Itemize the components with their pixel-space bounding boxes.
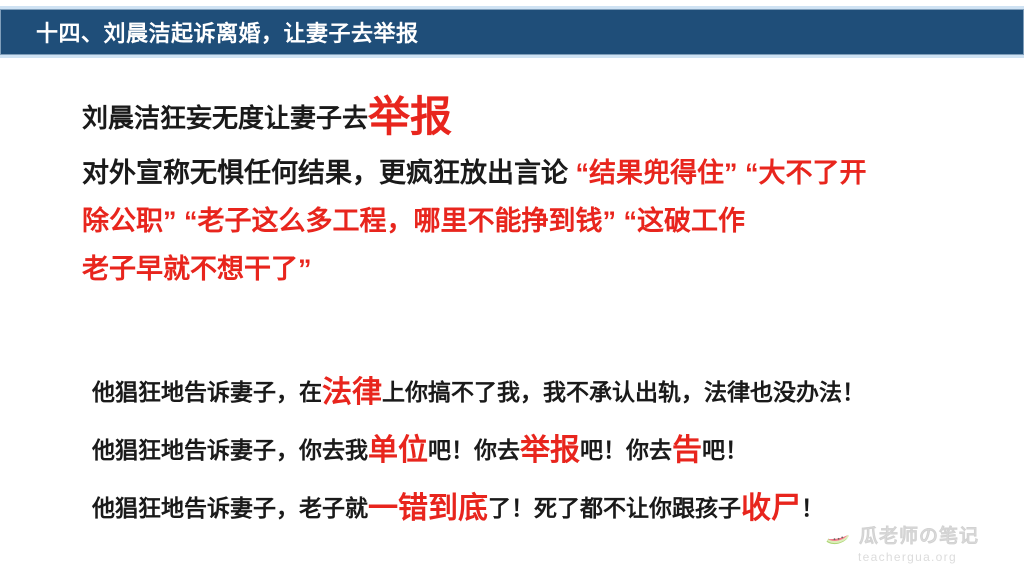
watermark-brand-text: 瓜老师の笔记 (859, 521, 979, 548)
statement-text-segment: 了！死了都不让你跟孩子 (488, 495, 741, 521)
headline-line: 刘晨洁狂妄无度让妻子去举报 (82, 92, 452, 134)
headline-lead-text: 刘晨洁狂妄无度让妻子去 (82, 103, 368, 133)
quotes-line: 对外宣称无惧任何结果，更疯狂放出言论 “结果兜得住” “大不了开 (82, 160, 992, 187)
statement-text-segment: 吧！你去 (580, 437, 672, 463)
watermelon-slice-icon (824, 520, 852, 548)
statement-line: 他猖狂地告诉妻子，在法律上你搞不了我，我不承认出轨，法律也没办法！ (92, 376, 992, 406)
watermark: 瓜老师の笔记 teachergua.org (824, 520, 1010, 568)
quotes-red-text: 老子早就不想干了” (82, 254, 312, 284)
quotes-red-text: 除公职” “老子这么多工程，哪里不能挣到钱” “这破工作 (82, 206, 745, 236)
quotes-red-text: “结果兜得住” “大不了开 (576, 158, 867, 188)
page-title: 十四、刘晨洁起诉离婚，让妻子去举报 (36, 16, 419, 48)
statement-text-segment: ！ (801, 495, 824, 521)
statement-line: 他猖狂地告诉妻子，老子就一错到底了！死了都不让你跟孩子收尸！ (92, 492, 992, 522)
statement-emphasis-segment: 法律 (322, 376, 382, 409)
watermark-url-text: teachergua.org (858, 550, 1010, 564)
statement-text-segment: 他猖狂地告诉妻子，你去我 (92, 437, 368, 463)
quotes-line: 除公职” “老子这么多工程，哪里不能挣到钱” “这破工作 (82, 208, 992, 235)
statement-emphasis-segment: 告 (672, 434, 702, 467)
statement-text-segment: 上你搞不了我，我不承认出轨，法律也没办法！ (382, 379, 865, 405)
slide-header-bar: 十四、刘晨洁起诉离婚，让妻子去举报 (0, 6, 1024, 58)
statement-text-segment: 他猖狂地告诉妻子，在 (92, 379, 322, 405)
quotes-paragraph-block: 对外宣称无惧任何结果，更疯狂放出言论 “结果兜得住” “大不了开 除公职” “老… (82, 160, 992, 304)
statement-emphasis-segment: 单位 (368, 434, 428, 467)
headline-block: 刘晨洁狂妄无度让妻子去举报 (82, 92, 452, 134)
statement-emphasis-segment: 举报 (520, 434, 580, 467)
statement-text-segment: 吧！你去 (428, 437, 520, 463)
statement-emphasis-segment: 收尸 (741, 492, 801, 525)
quotes-line: 老子早就不想干了” (82, 256, 992, 283)
statement-line: 他猖狂地告诉妻子，你去我单位吧！你去举报吧！你去告吧！ (92, 434, 992, 464)
statement-emphasis-segment: 一错到底 (368, 492, 488, 525)
slide-content: 刘晨洁狂妄无度让妻子去举报 对外宣称无惧任何结果，更疯狂放出言论 “结果兜得住”… (0, 64, 1024, 576)
quotes-lead-text: 对外宣称无惧任何结果，更疯狂放出言论 (82, 158, 576, 188)
statement-text-segment: 他猖狂地告诉妻子，老子就 (92, 495, 368, 521)
headline-emphasis-text: 举报 (368, 93, 452, 140)
statement-text-segment: 吧！ (702, 437, 748, 463)
watermark-brand-row: 瓜老师の笔记 (824, 520, 1010, 548)
